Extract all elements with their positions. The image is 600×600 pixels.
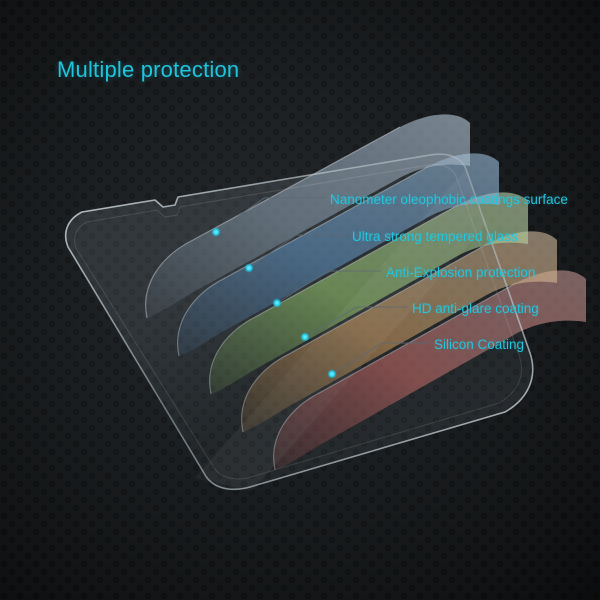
- layer-marker-dot-1: [211, 227, 220, 236]
- layer-label-2: Ultra strong tempered glass: [352, 229, 518, 244]
- page-title: Multiple protection: [57, 57, 239, 83]
- layer-label-1: Nanometer oleophobic coatings surface: [330, 192, 568, 207]
- layer-label-4: HD anti-glare coating: [412, 301, 539, 316]
- layer-marker-dot-2: [244, 263, 253, 272]
- product-feature-graphic: Multiple protection Nanometer oleophobic…: [0, 0, 600, 600]
- layer-label-3: Anti-Explosion protection: [386, 265, 535, 280]
- layer-label-5: Silicon Coating: [434, 337, 524, 352]
- layer-marker-dot-5: [327, 369, 336, 378]
- layer-marker-dot-3: [272, 298, 281, 307]
- layer-marker-dot-4: [300, 332, 309, 341]
- exploded-layer-illustration: [0, 0, 600, 600]
